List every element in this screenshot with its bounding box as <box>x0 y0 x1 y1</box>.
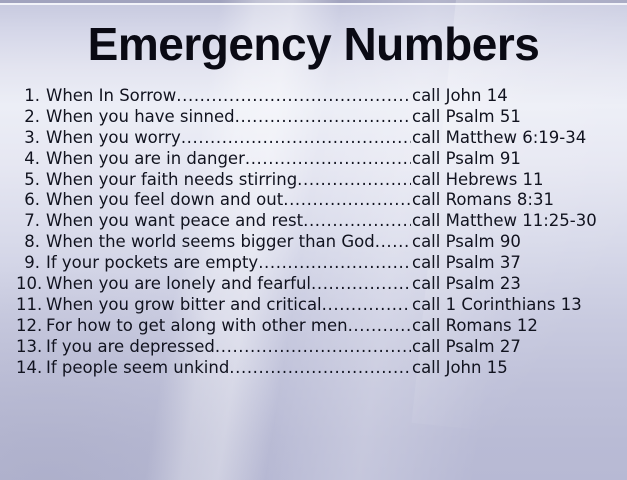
list-item: 9.If your pockets are empty.............… <box>16 253 616 274</box>
list-item-reference: call Psalm 51 <box>412 107 616 128</box>
list-item-need: For how to get along with other men <box>46 316 348 337</box>
list-item-number: 9. <box>16 253 46 274</box>
list-item: 3.When you worry........................… <box>16 128 616 149</box>
list-item-need: When you are in danger <box>46 149 245 170</box>
list-item: 2.When you have sinned..................… <box>16 107 616 128</box>
dot-leader: ........................................… <box>311 274 411 295</box>
list-item-reference: call Psalm 91 <box>412 149 616 170</box>
list-item-need: When In Sorrow <box>46 86 176 107</box>
list-item-need: When you worry <box>46 128 181 149</box>
list-item-number: 11. <box>16 295 46 316</box>
list-item-need: When you are lonely and fearful <box>46 274 311 295</box>
dot-leader: ........................................… <box>229 358 411 379</box>
list-item: 1.When In Sorrow........................… <box>16 86 616 107</box>
list-item-need: When you want peace and rest <box>46 211 303 232</box>
list-item-reference: call John 15 <box>412 358 616 379</box>
list-item-reference: call 1 Corinthians 13 <box>412 295 616 316</box>
list-item-reference: call Romans 8:31 <box>412 190 616 211</box>
dot-leader: ........................................… <box>297 170 411 191</box>
dot-leader: ........................................… <box>283 190 411 211</box>
list-item-number: 10. <box>16 274 46 295</box>
list-item: 8.When the world seems bigger than God..… <box>16 232 616 253</box>
dot-leader: ........................................… <box>235 107 411 128</box>
page-title: Emergency Numbers <box>0 18 627 70</box>
list-item: 6.When you feel down and out............… <box>16 190 616 211</box>
list-item: 13.If you are depressed.................… <box>16 337 616 358</box>
dot-leader: ........................................… <box>245 149 411 170</box>
dot-leader: ........................................… <box>176 86 411 107</box>
list-item-number: 7. <box>16 211 46 232</box>
list-item-number: 5. <box>16 170 46 191</box>
list-item-number: 2. <box>16 107 46 128</box>
list-item-reference: call Psalm 37 <box>412 253 616 274</box>
list-item-number: 3. <box>16 128 46 149</box>
emergency-numbers-list: 1.When In Sorrow........................… <box>16 86 616 378</box>
list-item-reference: call John 14 <box>412 86 616 107</box>
list-item-need: When you feel down and out <box>46 190 283 211</box>
list-item-number: 14. <box>16 358 46 379</box>
list-item-reference: call Romans 12 <box>412 316 616 337</box>
list-item-number: 6. <box>16 190 46 211</box>
list-item-reference: call Psalm 23 <box>412 274 616 295</box>
list-item: 5.When your faith needs stirring........… <box>16 170 616 191</box>
list-item-number: 13. <box>16 337 46 358</box>
dot-leader: ........................................… <box>215 337 411 358</box>
list-item-reference: call Hebrews 11 <box>412 170 616 191</box>
dot-leader: ........................................… <box>375 232 411 253</box>
dot-leader: ........................................… <box>322 295 411 316</box>
list-item-need: If people seem unkind <box>46 358 229 379</box>
list-item: 11.When you grow bitter and critical....… <box>16 295 616 316</box>
list-item-need: When your faith needs stirring <box>46 170 297 191</box>
list-item: 14.If people seem unkind................… <box>16 358 616 379</box>
list-item-need: If you are depressed <box>46 337 215 358</box>
list-item-need: When the world seems bigger than God <box>46 232 375 253</box>
list-item: 7.When you want peace and rest..........… <box>16 211 616 232</box>
list-item-number: 8. <box>16 232 46 253</box>
list-item-need: When you grow bitter and critical <box>46 295 322 316</box>
list-item: 12.For how to get along with other men..… <box>16 316 616 337</box>
list-item-need: When you have sinned <box>46 107 235 128</box>
list-item: 4.When you are in danger................… <box>16 149 616 170</box>
dot-leader: ........................................… <box>258 253 411 274</box>
list-item-reference: call Matthew 11:25-30 <box>412 211 616 232</box>
list-item-reference: call Psalm 90 <box>412 232 616 253</box>
dot-leader: ........................................… <box>181 128 411 149</box>
list-item-reference: call Psalm 27 <box>412 337 616 358</box>
list-item: 10.When you are lonely and fearful......… <box>16 274 616 295</box>
list-item-number: 1. <box>16 86 46 107</box>
dot-leader: ........................................… <box>303 211 411 232</box>
list-item-number: 12. <box>16 316 46 337</box>
list-item-need: If your pockets are empty <box>46 253 258 274</box>
list-item-reference: call Matthew 6:19-34 <box>412 128 616 149</box>
slide-canvas: Emergency Numbers 1.When In Sorrow......… <box>0 0 627 480</box>
dot-leader: ........................................… <box>348 316 411 337</box>
list-item-number: 4. <box>16 149 46 170</box>
top-border-highlight <box>0 3 627 5</box>
